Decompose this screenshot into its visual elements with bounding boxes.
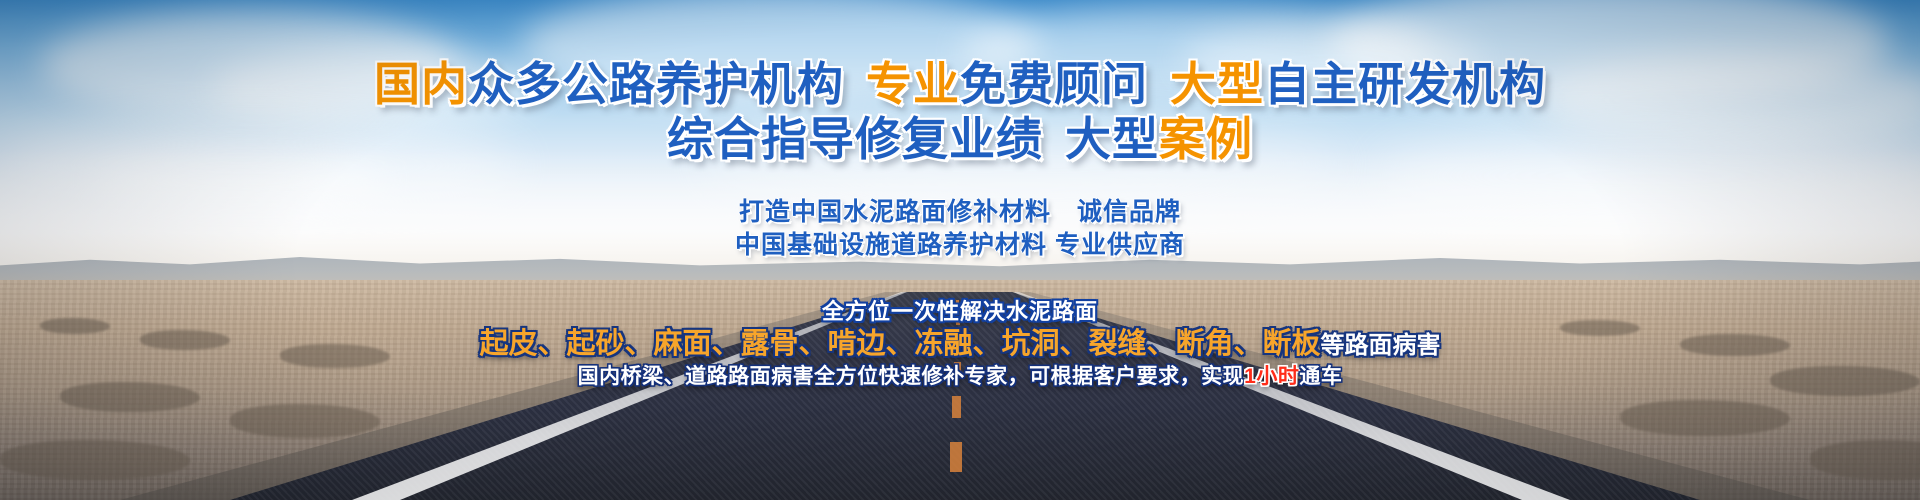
headline2-seg-1: 综合指导修复业绩 <box>667 113 1043 165</box>
center-dash <box>952 396 961 418</box>
road-footer-seg-3: 通车 <box>1299 365 1342 388</box>
scrub-bush <box>1620 400 1790 436</box>
road-footer-text: 国内桥梁、道路路面病害全方位快速修补专家，可根据客户要求，实现1小时通车 <box>0 360 1920 390</box>
center-dash <box>950 442 962 472</box>
headline-line-2: 综合指导修复业绩大型案例 <box>0 103 1920 169</box>
scrub-bush <box>230 404 380 438</box>
promo-banner: 国内众多公路养护机构专业免费顾问大型自主研发机构 综合指导修复业绩大型案例 打造… <box>0 0 1920 500</box>
subheading-line-1: 打造中国水泥路面修补材料 诚信品牌 <box>0 192 1920 228</box>
road-disease-list: 起皮、起砂、麻面、露骨、啃边、冻融、坑洞、裂缝、断角、断板等路面病害 <box>0 320 1920 362</box>
headline2-seg-2: 大型 <box>1065 113 1159 165</box>
disease-list-text: 起皮、起砂、麻面、露骨、啃边、冻融、坑洞、裂缝、断角、断板 <box>479 328 1320 360</box>
headline2-seg-3: 案例 <box>1159 113 1253 165</box>
disease-list-tail: 等路面病害 <box>1321 332 1441 359</box>
subheading-line-2: 中国基础设施道路养护材料 专业供应商 <box>0 225 1920 261</box>
road-footer-seg-1: 国内桥梁、道路路面病害全方位快速修补专家，可根据客户要求，实现 <box>578 365 1245 388</box>
scrub-bush <box>0 440 190 480</box>
road-footer-highlight: 1小时 <box>1244 365 1299 388</box>
